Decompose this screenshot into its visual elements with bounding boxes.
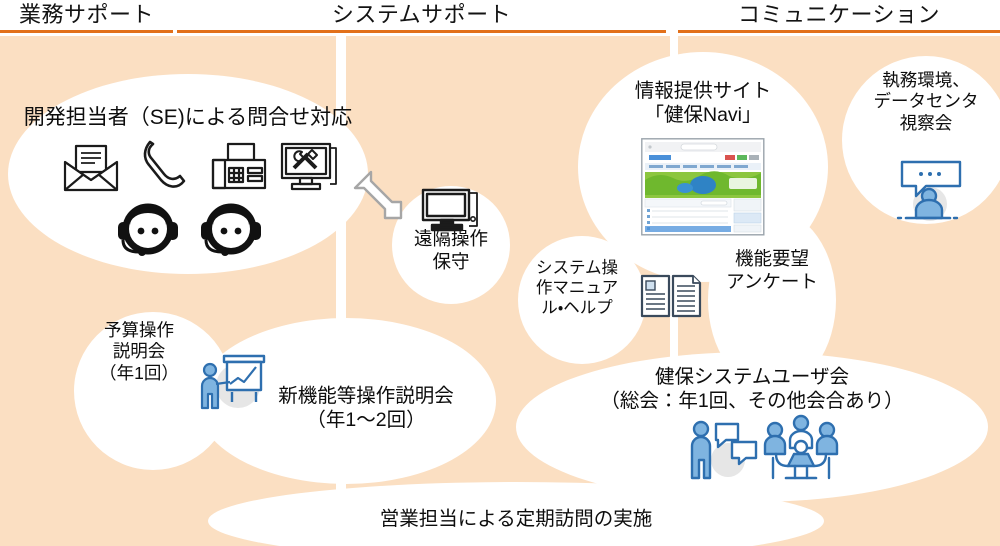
column-header-communication: コミュニケーション — [678, 0, 1000, 36]
column-title: コミュニケーション — [738, 2, 940, 27]
person-speech-bubble-icon — [884, 160, 968, 222]
fax-icon — [210, 142, 268, 192]
label-new-function-seminar: 新機能等操作説明会 （年1～2回） — [236, 385, 496, 433]
label-site-visit: 執務環境、 データセンタ 視察会 — [842, 70, 1000, 134]
headset-operator-icon — [116, 196, 180, 258]
label-manual-help: システム操 作マニュア ル・ヘルプ — [522, 258, 632, 318]
double-headed-arrow-icon — [352, 168, 414, 226]
column-rule — [0, 30, 173, 33]
open-book-icon — [640, 272, 702, 320]
label-budget-seminar: 予算操作 説明会 （年1回） — [74, 320, 204, 384]
presenter-chart-icon — [196, 352, 268, 414]
column-rule — [177, 30, 666, 33]
label-remote-ops: 遠隔操作 保守 — [392, 228, 510, 273]
column-header-business-support: 業務サポート — [0, 0, 173, 36]
website-thumbnail-icon — [641, 138, 765, 236]
label-sales-visit: 営業担当による定期訪問の実施 — [208, 508, 824, 532]
diagram-canvas: 業務サポート システムサポート コミュニケーション 開発担当者（SE)による問合… — [0, 0, 1000, 546]
envelope-icon — [62, 142, 120, 194]
label-questionnaire: 機能要望 アンケート — [708, 248, 836, 293]
label-se-inquiry: 開発担当者（SE)による問合せ対応 — [8, 105, 368, 131]
column-header-system-support: システムサポート — [177, 0, 666, 36]
label-user-group: 健保システムユーザ会 （総会：年1回、その他会合あり） — [516, 366, 988, 414]
column-rule — [678, 30, 1000, 33]
person-speech-bubble-icon — [688, 418, 760, 482]
column-title: 業務サポート — [19, 2, 154, 27]
monitor-maintenance-icon — [280, 142, 338, 194]
headset-operator-icon — [199, 196, 263, 258]
column-title: システムサポート — [332, 2, 511, 27]
label-info-site: 情報提供サイト 「健保Navi」 — [578, 80, 828, 128]
monitor-icon — [421, 188, 481, 234]
telephone-icon — [143, 140, 191, 194]
meeting-group-icon — [762, 414, 840, 482]
